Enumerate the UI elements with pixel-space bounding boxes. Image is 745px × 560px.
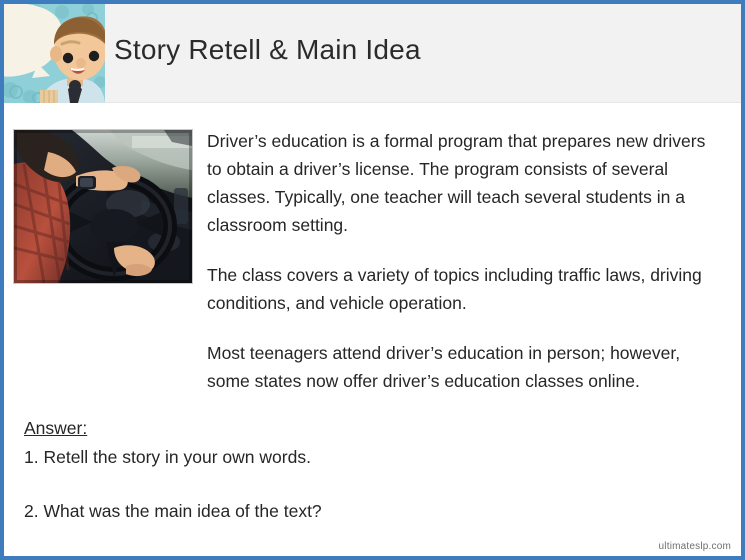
question-1: 1. Retell the story in your own words. xyxy=(24,443,724,471)
story-paragraph-1: Driver’s education is a formal program t… xyxy=(207,127,723,239)
answer-section: Answer: 1. Retell the story in your own … xyxy=(24,415,724,525)
cartoon-boy-icon xyxy=(4,4,105,103)
worksheet-slide: Story Retell & Main Idea xyxy=(0,0,745,560)
slide-header: Story Retell & Main Idea xyxy=(4,4,741,103)
avatar xyxy=(4,4,105,103)
driver-at-steering-wheel-photo xyxy=(13,129,193,284)
answer-label-wrap: Answer: xyxy=(24,415,724,441)
question-2: 2. What was the main idea of the text? xyxy=(24,497,724,525)
story-text: Driver’s education is a formal program t… xyxy=(207,127,723,395)
story-paragraph-2: The class covers a variety of topics inc… xyxy=(207,261,723,317)
story-paragraph-3: Most teenagers attend driver’s education… xyxy=(207,339,723,395)
car-interior-photo-icon xyxy=(14,130,192,283)
page-title: Story Retell & Main Idea xyxy=(114,34,421,66)
watermark: ultimateslp.com xyxy=(659,541,731,552)
answer-label: Answer: xyxy=(24,415,87,441)
slide-body: Driver’s education is a formal program t… xyxy=(4,103,741,556)
